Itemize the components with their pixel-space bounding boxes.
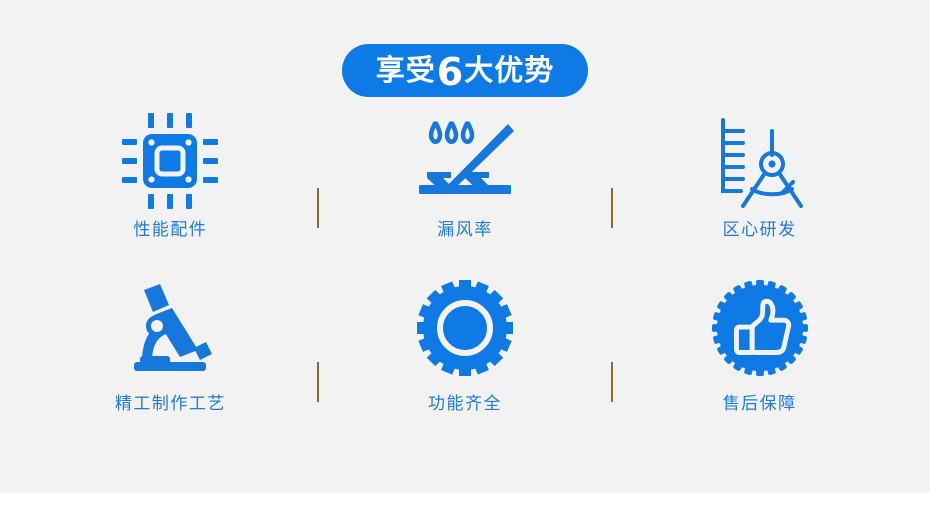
icon-box xyxy=(120,274,220,386)
icon-box xyxy=(118,108,222,218)
column-divider xyxy=(611,188,613,228)
feature-label: 漏风率 xyxy=(437,222,493,239)
thumbs-up-badge-icon xyxy=(711,279,809,381)
column-divider xyxy=(317,362,319,402)
title-number: 6 xyxy=(436,53,464,91)
icon-box xyxy=(413,108,517,218)
feature-item-air-leakage[interactable]: 漏风率 xyxy=(343,108,588,239)
feature-item-rnd[interactable]: 区心研发 xyxy=(637,108,882,239)
promo-feature-page: 享受 6 大优势 xyxy=(0,0,930,518)
title-suffix: 大优势 xyxy=(464,56,554,85)
icon-box xyxy=(415,274,515,386)
title-badge: 享受 6 大优势 xyxy=(342,44,588,97)
cpu-chip-icon xyxy=(118,109,222,217)
feature-item-full-function[interactable]: 功能齐全 xyxy=(343,274,588,413)
feature-row-1: 性能配件 xyxy=(48,108,882,274)
microscope-icon xyxy=(120,278,220,382)
icon-box xyxy=(711,274,809,386)
air-leakage-icon xyxy=(413,112,517,214)
title-prefix: 享受 xyxy=(376,56,436,85)
feature-item-craftsmanship[interactable]: 精工制作工艺 xyxy=(48,274,293,413)
feature-label: 精工制作工艺 xyxy=(115,396,226,413)
header-area: 享受 6 大优势 xyxy=(0,44,930,97)
feature-label: 性能配件 xyxy=(133,222,207,239)
column-divider xyxy=(611,362,613,402)
feature-item-after-sales[interactable]: 售后保障 xyxy=(637,274,882,413)
column-divider xyxy=(317,188,319,228)
feature-label: 售后保障 xyxy=(723,396,797,413)
feature-label: 功能齐全 xyxy=(428,396,502,413)
bottom-white-strip xyxy=(0,493,930,518)
feature-item-performance-parts[interactable]: 性能配件 xyxy=(48,108,293,239)
drafting-compass-icon xyxy=(710,111,810,215)
icon-box xyxy=(710,108,810,218)
gear-icon xyxy=(415,278,515,382)
feature-grid: 性能配件 xyxy=(48,108,882,440)
feature-label: 区心研发 xyxy=(723,222,797,239)
feature-row-2: 精工制作工艺 xyxy=(48,274,882,440)
